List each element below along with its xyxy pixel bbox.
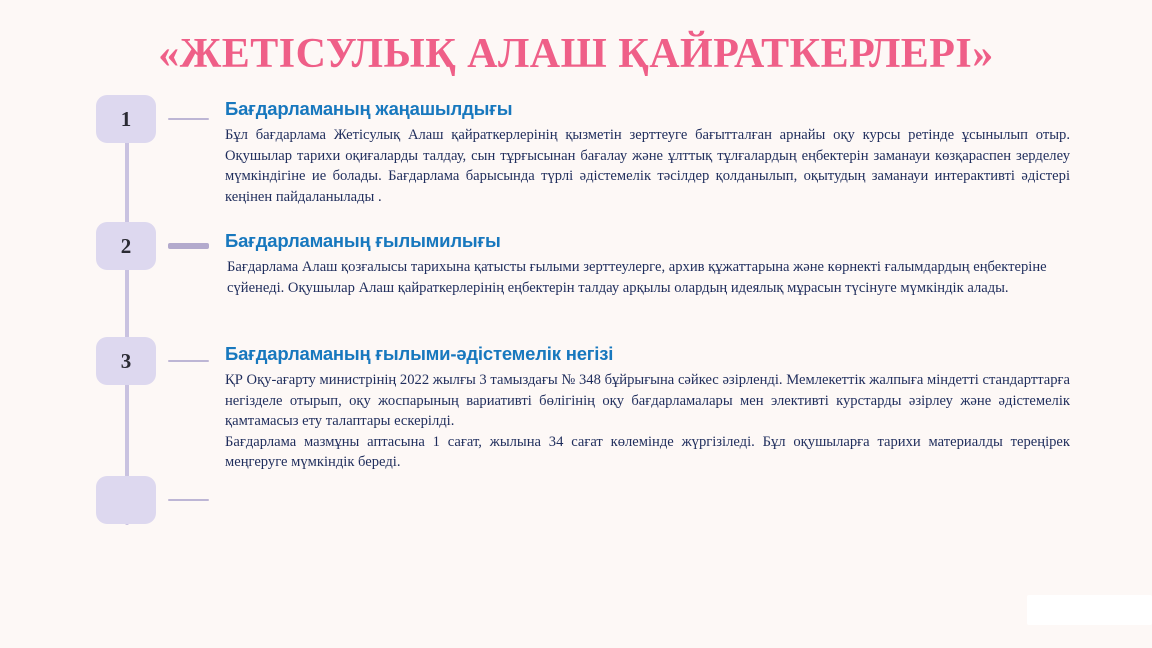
timeline-badge-3-label: 3 xyxy=(121,349,132,374)
timeline-connector-line xyxy=(125,131,129,525)
timeline-badge-1[interactable]: 1 xyxy=(96,95,156,143)
section-scientific: Бағдарламаның ғылымилығы Бағдарлама Алаш… xyxy=(225,230,1070,298)
section-novelty-heading: Бағдарламаның жаңашылдығы xyxy=(225,98,1070,120)
section-methodological-basis-body-a: ҚР Оқу-ағарту министрінің 2022 жылғы 3 т… xyxy=(225,370,1070,432)
timeline-rail: 1 2 3 xyxy=(96,95,212,525)
section-scientific-body: Бағдарлама Алаш қозғалысы тарихына қатыс… xyxy=(225,257,1070,298)
timeline-dash-2 xyxy=(168,243,209,249)
section-novelty: Бағдарламаның жаңашылдығы Бұл бағдарлама… xyxy=(225,98,1070,207)
page-title: «ЖЕТІСУЛЫҚ АЛАШ ҚАЙРАТКЕРЛЕРІ» xyxy=(0,30,1152,78)
timeline-badge-1-label: 1 xyxy=(121,107,132,132)
section-methodological-basis-body-b: Бағдарлама мазмұны аптасына 1 сағат, жыл… xyxy=(225,432,1070,473)
timeline-badge-4[interactable] xyxy=(96,476,156,524)
section-methodological-basis: Бағдарламаның ғылыми-әдістемелік негізі … xyxy=(225,343,1070,473)
section-methodological-basis-heading: Бағдарламаның ғылыми-әдістемелік негізі xyxy=(225,343,1070,365)
timeline-dash-1 xyxy=(168,118,209,120)
timeline-dash-3 xyxy=(168,360,209,362)
bottom-right-plate xyxy=(1027,595,1152,625)
timeline-badge-2-label: 2 xyxy=(121,234,132,259)
timeline-badge-2[interactable]: 2 xyxy=(96,222,156,270)
section-scientific-heading: Бағдарламаның ғылымилығы xyxy=(225,230,1070,252)
slide-root: «ЖЕТІСУЛЫҚ АЛАШ ҚАЙРАТКЕРЛЕРІ» 1 2 3 Бағ… xyxy=(0,0,1152,648)
section-novelty-body: Бұл бағдарлама Жетісулық Алаш қайраткерл… xyxy=(225,125,1070,207)
timeline-badge-3[interactable]: 3 xyxy=(96,337,156,385)
timeline-dash-4 xyxy=(168,499,209,501)
